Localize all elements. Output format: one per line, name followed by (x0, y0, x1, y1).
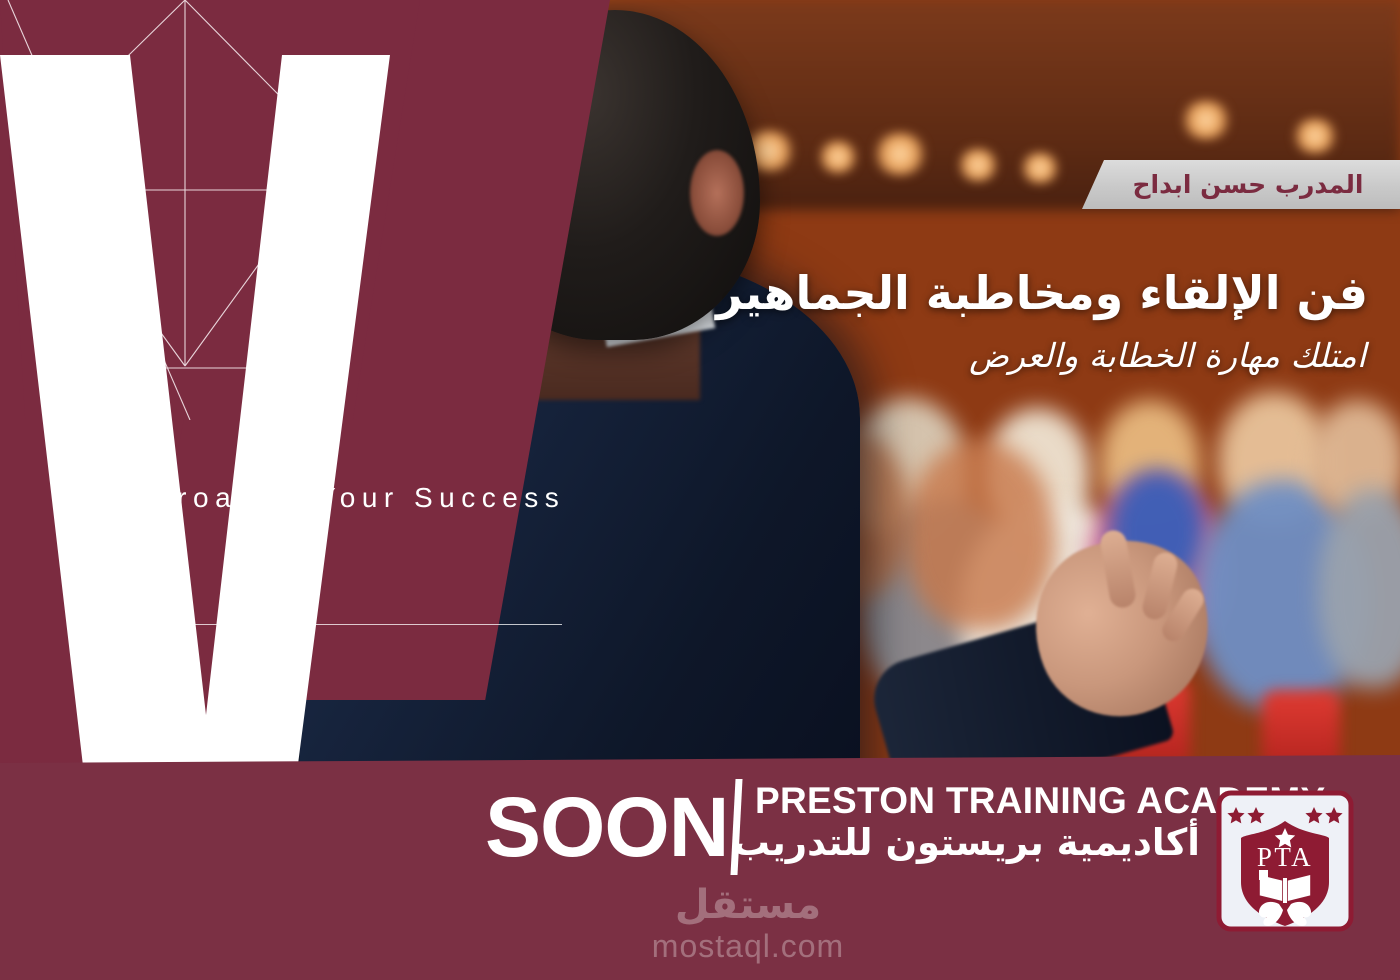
promo-poster: المدرب حسن ابداح فن الإلقاء ومخاطبة الجم… (0, 0, 1400, 980)
course-headline: فن الإلقاء ومخاطبة الجماهير (716, 266, 1368, 320)
trainer-name-label: المدرب حسن ابداح (1092, 170, 1389, 199)
decorative-rule-lower (150, 624, 562, 625)
badge-monogram: PTA (1257, 842, 1313, 872)
brand-tagline: Broaden Your Success (152, 482, 565, 514)
maroon-top-panel (0, 0, 420, 420)
academy-name-ar: أكاديمية بريستون للتدريب (755, 821, 1200, 864)
audience-figure (905, 440, 1055, 630)
footer-brand-row: SOON PRESTON TRAINING ACADEMY أكاديمية ب… (0, 755, 1400, 980)
speaker-ear (690, 150, 744, 236)
ceiling-light (1290, 118, 1340, 154)
soon-label: SOON (485, 785, 728, 869)
ceiling-light (870, 132, 930, 176)
trainer-name-banner: المدرب حسن ابداح (1082, 160, 1400, 209)
ceiling-light (816, 140, 860, 174)
academy-logo-badge: PTA (1215, 790, 1355, 932)
ceiling-light (1178, 100, 1234, 140)
ceiling-light (1018, 152, 1062, 184)
ceiling-light (955, 148, 1001, 182)
course-subheadline: امتلك مهارة الخطابة والعرض (969, 336, 1366, 375)
